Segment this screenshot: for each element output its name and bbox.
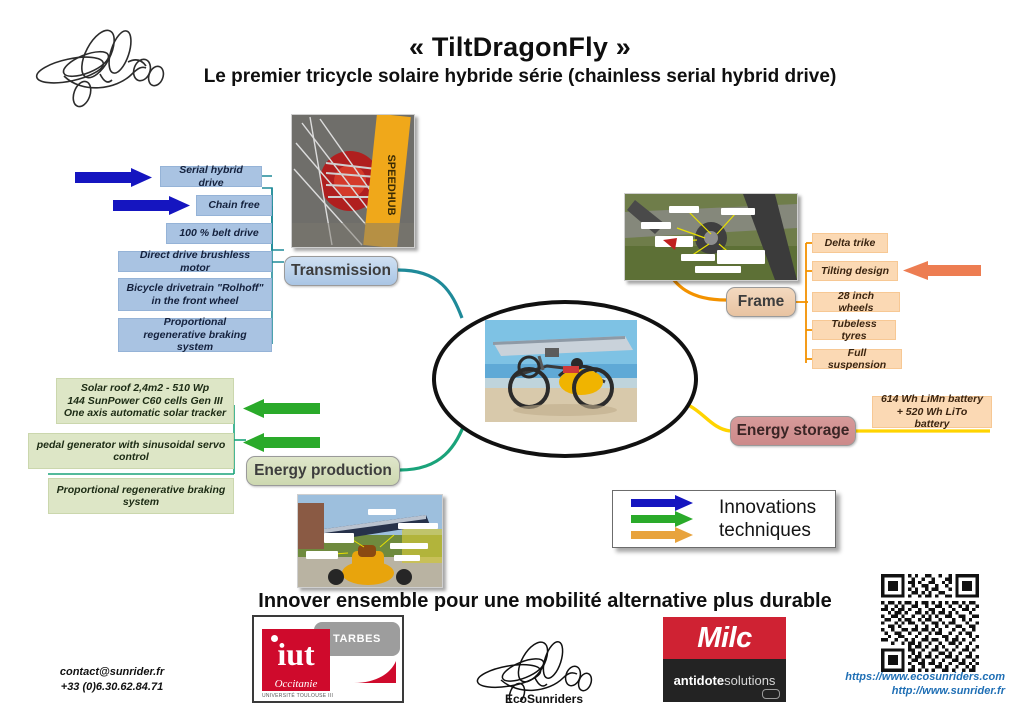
contact-email: contact@sunrider.fr bbox=[22, 665, 202, 680]
milc-antidote-text: antidote bbox=[674, 673, 725, 688]
contact-phone: +33 (0)6.30.62.84.71 bbox=[22, 680, 202, 695]
legend-arrows-icon bbox=[627, 493, 713, 545]
ecosunriders-wordmark: EcoSunriders bbox=[505, 692, 583, 706]
ecosunriders-logo: EcoSunriders bbox=[465, 640, 605, 710]
iut-logo: TARBES iut Occitanie UNIVERSITÉ TOULOUSE… bbox=[252, 615, 404, 703]
milc-small-mark-icon bbox=[762, 689, 780, 699]
legend-line-1: Innovations bbox=[719, 496, 816, 519]
iut-red-block: iut Occitanie bbox=[262, 629, 330, 691]
arrow-tilting-design bbox=[903, 261, 981, 280]
legend-line-2: techniques bbox=[719, 519, 816, 542]
milc-tagline: antidotesolutions bbox=[674, 673, 776, 688]
urls-block: https://www.ecosunriders.com http://www.… bbox=[805, 670, 1005, 698]
milc-solutions-text: solutions bbox=[724, 673, 775, 688]
milc-bottom-block: antidotesolutions bbox=[663, 659, 786, 702]
iut-swoosh-icon bbox=[352, 659, 398, 685]
milc-top-block: Milc bbox=[663, 617, 786, 659]
contact-block: contact@sunrider.fr +33 (0)6.30.62.84.71 bbox=[22, 665, 202, 695]
poster-canvas: « TiltDragonFly » Le premier tricycle so… bbox=[0, 0, 1024, 724]
iut-university-label: UNIVERSITÉ TOULOUSE III bbox=[262, 693, 333, 699]
leaf-battery-capacity[interactable]: 614 Wh LiMn battery + 520 Wh LiTo batter… bbox=[872, 396, 992, 428]
iut-wordmark: iut bbox=[262, 637, 330, 671]
milc-logo: Milc antidotesolutions bbox=[663, 617, 786, 702]
milc-wordmark: Milc bbox=[697, 622, 751, 655]
legend-box: Innovations techniques bbox=[612, 490, 836, 548]
qr-code-icon[interactable] bbox=[881, 574, 979, 672]
orange-arrow-group bbox=[0, 0, 1024, 724]
branch-node-energy-storage[interactable]: Energy storage bbox=[730, 416, 856, 446]
legend-text: Innovations techniques bbox=[713, 496, 816, 542]
url-ecosunriders[interactable]: https://www.ecosunriders.com bbox=[805, 670, 1005, 684]
iut-region-label: Occitanie bbox=[262, 678, 330, 690]
footer-tagline: Innover ensemble pour une mobilité alter… bbox=[130, 590, 960, 613]
url-sunrider[interactable]: http://www.sunrider.fr bbox=[805, 684, 1005, 698]
